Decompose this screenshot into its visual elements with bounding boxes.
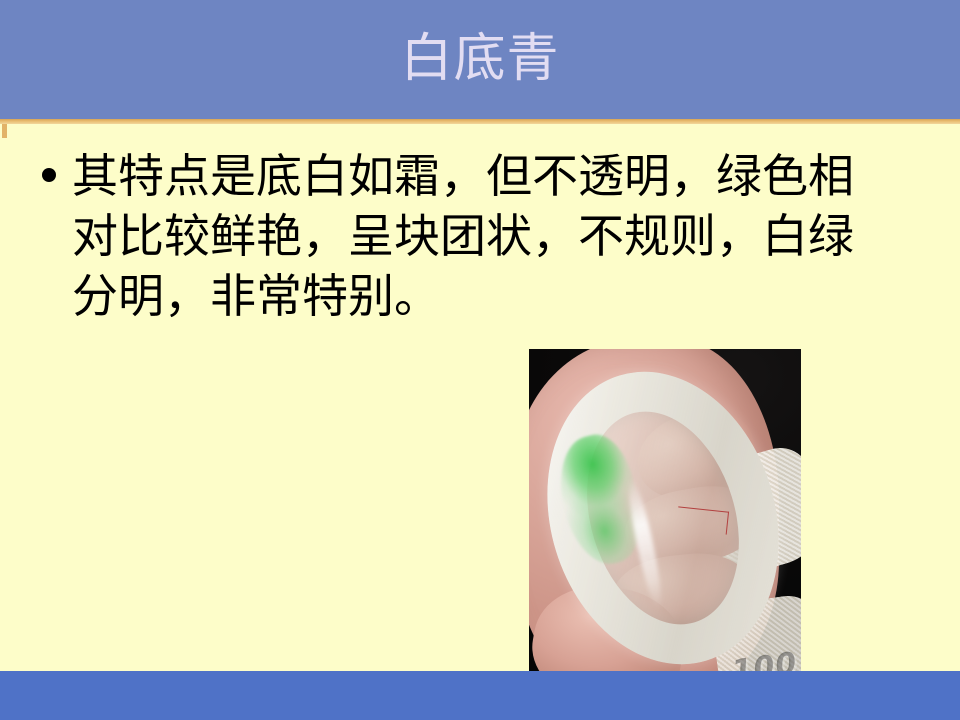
bullet-dot-icon [42, 168, 56, 182]
slide-canvas: 白底青 其特点是底白如霜，但不透明，绿色相对比较鲜艳，呈块团状，不规则，白绿分明… [0, 0, 960, 720]
slide-footer-band [0, 671, 960, 720]
slide-body: 其特点是底白如霜，但不透明，绿色相对比较鲜艳，呈块团状，不规则，白绿分明，非常特… [34, 146, 914, 326]
jade-bangle-photo: 100 [529, 349, 801, 690]
header-divider [0, 119, 960, 124]
bullet-list-item: 其特点是底白如霜，但不透明，绿色相对比较鲜艳，呈块团状，不规则，白绿分明，非常特… [34, 146, 914, 326]
bullet-item-text: 其特点是底白如霜，但不透明，绿色相对比较鲜艳，呈块团状，不规则，白绿分明，非常特… [72, 146, 882, 326]
header-left-accent-mark [2, 124, 7, 138]
slide-title: 白底青 [0, 27, 960, 91]
